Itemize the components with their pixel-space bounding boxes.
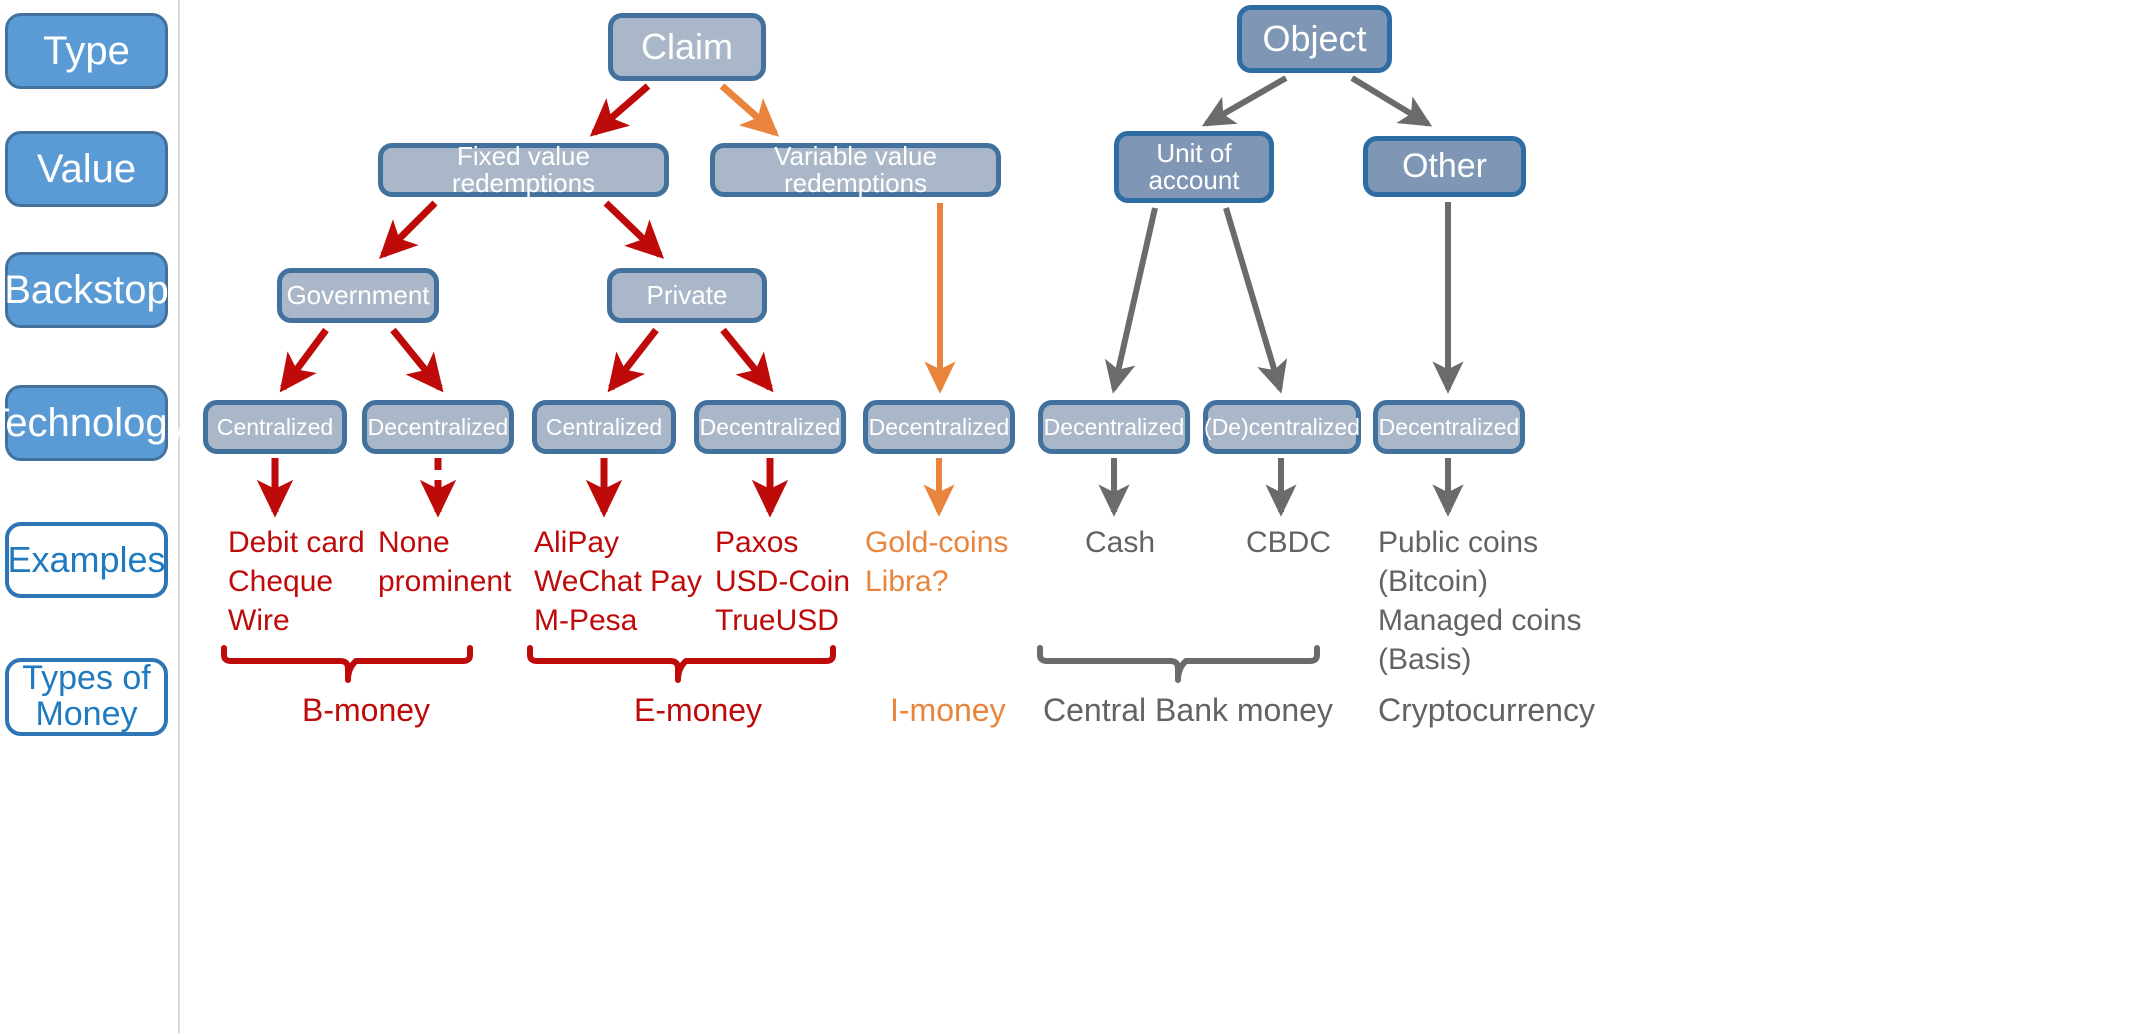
- category-label: Technology: [0, 402, 188, 444]
- node-label: Object: [1262, 20, 1366, 58]
- node-other[interactable]: Other: [1363, 136, 1526, 197]
- category-label: Backstop: [4, 269, 169, 311]
- example-b-decentralized: None prominent: [378, 523, 511, 601]
- node-label: Unit of account: [1148, 140, 1239, 195]
- node-label: Private: [647, 282, 728, 309]
- money-type-cryptocurrency: Cryptocurrency: [1378, 690, 1595, 732]
- node-tech-priv-decentralized[interactable]: Decentralized: [694, 400, 846, 454]
- node-tech-other-decentralized[interactable]: Decentralized: [1373, 400, 1525, 454]
- category-value: Value: [5, 131, 168, 207]
- node-label: Centralized: [217, 415, 333, 439]
- node-variable-value-redemptions[interactable]: Variable value redemptions: [710, 143, 1001, 197]
- example-b-centralized: Debit card Cheque Wire: [228, 523, 365, 640]
- category-label: Type: [43, 30, 130, 72]
- node-fixed-value-redemptions[interactable]: Fixed value redemptions: [378, 143, 669, 197]
- money-type-i-money: I-money: [890, 690, 1006, 732]
- node-object[interactable]: Object: [1237, 5, 1392, 73]
- node-label: Decentralized: [700, 415, 841, 439]
- example-i-money: Gold-coins Libra?: [865, 523, 1008, 601]
- node-tech-gov-decentralized[interactable]: Decentralized: [362, 400, 514, 454]
- node-label: Claim: [641, 28, 733, 66]
- node-label: Decentralized: [368, 415, 509, 439]
- category-label: Examples: [7, 541, 165, 579]
- category-technology: Technology: [5, 385, 168, 461]
- node-government[interactable]: Government: [277, 268, 439, 323]
- money-type-e-money: E-money: [634, 690, 762, 732]
- node-tech-uoa-de-centralized[interactable]: (De)centralized: [1203, 400, 1361, 454]
- node-unit-of-account[interactable]: Unit of account: [1114, 131, 1274, 203]
- node-label: (De)centralized: [1204, 415, 1360, 439]
- node-label: Decentralized: [1044, 415, 1185, 439]
- example-cash: Cash: [1085, 523, 1155, 562]
- node-label: Centralized: [546, 415, 662, 439]
- category-label: Types of Money: [22, 661, 151, 732]
- node-private[interactable]: Private: [607, 268, 767, 323]
- node-label: Government: [286, 282, 429, 309]
- node-label: Decentralized: [869, 415, 1010, 439]
- node-label: Fixed value redemptions: [383, 143, 664, 198]
- category-type: Type: [5, 13, 168, 89]
- example-e-centralized: AliPay WeChat Pay M-Pesa: [534, 523, 702, 640]
- example-cbdc: CBDC: [1246, 523, 1331, 562]
- node-label: Decentralized: [1379, 415, 1520, 439]
- example-e-decentralized: Paxos USD-Coin TrueUSD: [715, 523, 850, 640]
- category-types-of-money: Types of Money: [5, 658, 168, 736]
- money-type-central-bank-money: Central Bank money: [1043, 690, 1333, 732]
- node-label: Variable value redemptions: [715, 143, 996, 198]
- node-tech-uoa-decentralized[interactable]: Decentralized: [1038, 400, 1190, 454]
- example-crypto: Public coins (Bitcoin) Managed coins (Ba…: [1378, 523, 1581, 679]
- node-claim[interactable]: Claim: [608, 13, 766, 81]
- category-examples: Examples: [5, 522, 168, 598]
- column-divider: [178, 0, 180, 1033]
- category-label: Value: [37, 148, 136, 190]
- node-tech-gov-centralized[interactable]: Centralized: [203, 400, 347, 454]
- category-backstop: Backstop: [5, 252, 168, 328]
- node-tech-priv-centralized[interactable]: Centralized: [532, 400, 676, 454]
- money-type-b-money: B-money: [302, 690, 430, 732]
- diagram-canvas: Type Value Backstop Technology Examples …: [0, 0, 2145, 1033]
- node-label: Other: [1402, 149, 1487, 185]
- node-tech-variable-decentralized[interactable]: Decentralized: [863, 400, 1015, 454]
